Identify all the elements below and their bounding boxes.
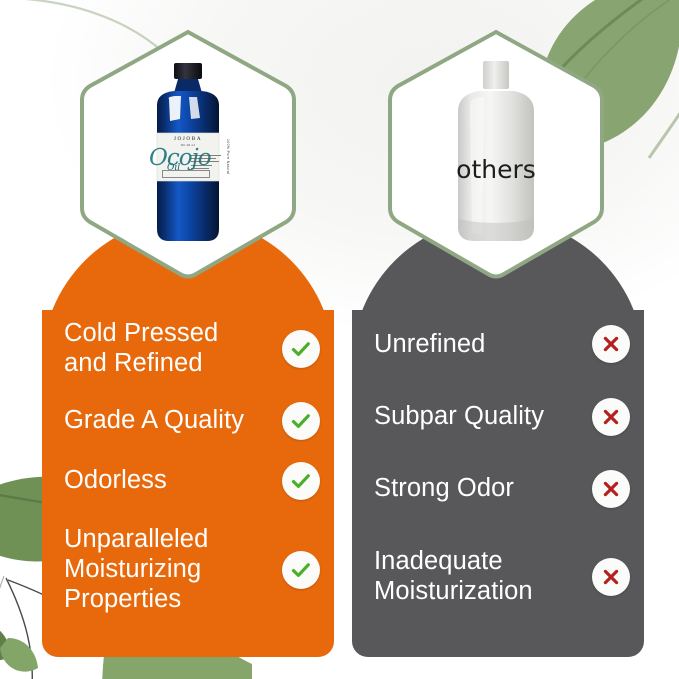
feature-label: Unrefined	[374, 330, 592, 360]
column-others: Unrefined Subpar Quality Strong Odor	[352, 218, 644, 657]
label-text-lines	[191, 155, 221, 171]
check-icon	[282, 551, 320, 589]
feature-label: Inadequate Moisturization	[374, 547, 592, 607]
product-badge-others: others	[382, 28, 610, 280]
feature-label: Strong Odor	[374, 474, 592, 504]
label-bottom-code	[162, 170, 210, 178]
comparison-graphic: Cold Pressed and Refined Grade A Quality…	[0, 0, 679, 679]
product-image-ours: JOJOBA Oil 16 oz Ocojo Oil 100% Pure Nat…	[74, 28, 302, 280]
feature-row-others-1[interactable]: Unrefined	[352, 310, 644, 379]
product-badge-ours: JOJOBA Oil 16 oz Ocojo Oil 100% Pure Nat…	[74, 28, 302, 280]
cross-icon	[592, 325, 630, 363]
cross-icon	[592, 558, 630, 596]
feature-row-ours-3[interactable]: Odorless	[42, 453, 334, 509]
feature-label: Cold Pressed and Refined	[64, 319, 282, 379]
column-ours: Cold Pressed and Refined Grade A Quality…	[42, 218, 334, 657]
others-label: others	[450, 155, 542, 184]
feature-row-ours-2[interactable]: Grade A Quality	[42, 392, 334, 448]
feature-row-ours-1[interactable]: Cold Pressed and Refined	[42, 310, 334, 388]
feature-row-others-3[interactable]: Strong Odor	[352, 455, 644, 523]
white-bottle: others	[450, 59, 542, 249]
feature-label: Unparalleled Moisturizing Properties	[64, 525, 282, 614]
check-icon	[282, 462, 320, 500]
label-brand: JOJOBA	[145, 136, 231, 142]
blue-bottle: JOJOBA Oil 16 oz Ocojo Oil 100% Pure Nat…	[145, 63, 231, 245]
label-vertical-text: 100% Pure Natural	[226, 139, 230, 174]
bottle-label: JOJOBA Oil 16 oz Ocojo Oil 100% Pure Nat…	[145, 133, 231, 181]
check-icon	[282, 402, 320, 440]
feature-row-others-2[interactable]: Subpar Quality	[352, 383, 644, 451]
feature-label: Odorless	[64, 466, 282, 496]
cross-icon	[592, 470, 630, 508]
feature-row-others-4[interactable]: Inadequate Moisturization	[352, 527, 644, 627]
check-icon	[282, 330, 320, 368]
feature-label: Subpar Quality	[374, 402, 592, 432]
product-image-others: others	[382, 28, 610, 280]
feature-list-ours: Cold Pressed and Refined Grade A Quality…	[42, 310, 334, 627]
feature-row-ours-4[interactable]: Unparalleled Moisturizing Properties	[42, 513, 334, 627]
feature-label: Grade A Quality	[64, 406, 282, 436]
cross-icon	[592, 398, 630, 436]
feature-list-others: Unrefined Subpar Quality Strong Odor	[352, 310, 644, 627]
